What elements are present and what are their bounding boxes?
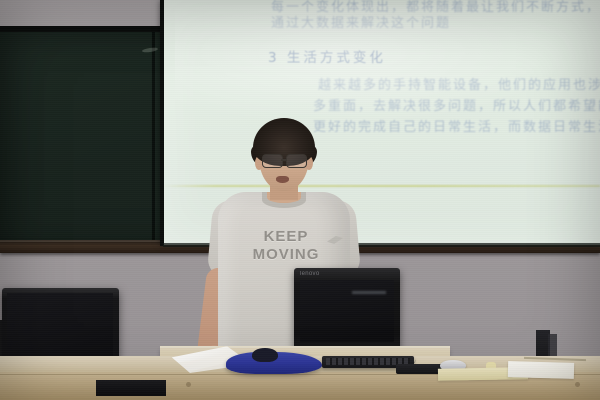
tshirt-text-line-2: MOVING (244, 246, 328, 264)
tshirt-text-line-1: KEEP (244, 228, 328, 246)
blue-jacket-fold (252, 348, 278, 362)
slide-line-2: 通过大数据来解决这个问题 (271, 12, 451, 31)
lenovo-monitor-screen (300, 280, 394, 342)
desk-dark-panel (96, 380, 166, 396)
eyeglasses-bridge (281, 159, 286, 161)
eyeglasses-right-lens (286, 154, 307, 168)
tshirt-text: KEEP MOVING (244, 228, 328, 264)
classroom-photo: 每一个变化体现出，都将随着最让我们不断方式，都 通过大数据来解决这个问题 3 生… (0, 0, 600, 400)
lenovo-logo: lenovo (300, 271, 319, 277)
eyeglasses-left-lens (262, 154, 283, 168)
blackboard-seam (152, 30, 155, 248)
mouth (276, 176, 289, 183)
white-papers-right (508, 361, 574, 379)
lenovo-monitor-glare (352, 291, 386, 294)
desk-screw-left (186, 382, 191, 387)
slide-body-line-2: 多重面，去解决很多问题，所以人们都希望能 (313, 95, 600, 114)
desk-screw-right (575, 382, 580, 387)
slide-body-line-1: 越来越多的手持智能设备，他们的应用也涉及更 (318, 74, 600, 93)
slide-heading: 3 生活方式变化 (268, 46, 386, 66)
